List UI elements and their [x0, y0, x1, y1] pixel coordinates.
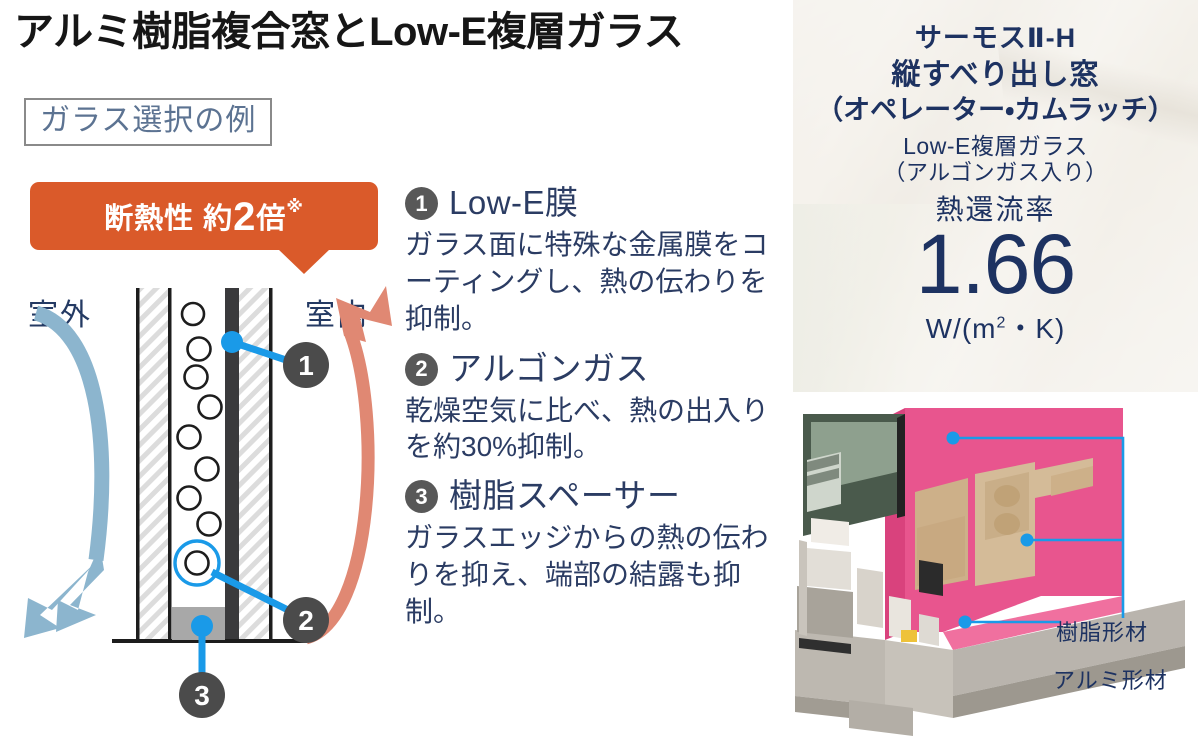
feature-title-3: 樹脂スペーサー — [449, 475, 681, 518]
feature-number-2: 2 — [405, 353, 438, 386]
insulation-badge-asterisk: ※ — [286, 197, 304, 217]
label-aluminum-profile: アルミ形材 — [1053, 663, 1168, 695]
frame-cutaway-illustration — [793, 400, 1198, 748]
feature-item-lowe-film: 1 Low-E膜 ガラス面に特殊な金属膜をコーティングし、熱の伝わりを抑制。 — [405, 182, 785, 338]
spec-model-name: サーモスⅡ-H — [915, 22, 1076, 54]
argon-gas-bubbles — [178, 303, 222, 575]
product-spec-panel: サーモスⅡ-H 縦すべり出し窓 （オペレーター・カムラッチ） Low-E複層ガラ… — [793, 0, 1198, 392]
feature-body-3: ガラスエッジからの熱の伝わりを抑え、端部の結露も抑制。 — [405, 520, 785, 631]
right-column: サーモスⅡ-H 縦すべり出し窓 （オペレーター・カムラッチ） Low-E複層ガラ… — [790, 0, 1200, 750]
feature-title-1: Low-E膜 — [449, 182, 579, 225]
left-column: アルミ樹脂複合窓とLow‐E複層ガラス ガラス選択の例 断熱性 約2倍※ 室外 … — [0, 0, 790, 750]
page-title: アルミ樹脂複合窓とLow‐E複層ガラス — [14, 10, 784, 54]
glass-selection-example-box: ガラス選択の例 — [24, 98, 272, 146]
insulation-badge-text: 断熱性 約2倍※ — [30, 182, 378, 250]
outer-glass-pane — [136, 288, 172, 643]
glass-cross-section-diagram: 1 2 3 — [0, 270, 400, 740]
heat-out-arrow — [24, 313, 104, 638]
svg-text:3: 3 — [194, 680, 210, 711]
spec-glass-detail: （アルゴンガス入り） — [883, 160, 1107, 186]
leader-dot-aluminum — [959, 616, 972, 629]
glass-selection-example-label: ガラス選択の例 — [40, 104, 256, 137]
feature-body-1: ガラス面に特殊な金属膜をコーティングし、熱の伝わりを抑制。 — [405, 227, 785, 338]
callout-marker-1: 1 — [283, 342, 329, 388]
heat-in-arrow — [306, 286, 392, 638]
feature-heading: 3 樹脂スペーサー — [405, 475, 785, 518]
callout-leader-3 — [191, 615, 213, 674]
unit-prefix: W/(m — [926, 313, 997, 344]
svg-text:2: 2 — [298, 605, 314, 636]
label-resin-profile: 樹脂形材 — [1056, 615, 1148, 647]
feature-heading: 2 アルゴンガス — [405, 348, 785, 391]
infographic-page: アルミ樹脂複合窓とLow‐E複層ガラス ガラス選択の例 断熱性 約2倍※ 室外 … — [0, 0, 1200, 750]
spec-window-type: 縦すべり出し窓 — [892, 58, 1100, 93]
leader-dot-resin-top — [947, 432, 960, 445]
frame-cutaway-photo-panel — [793, 400, 1198, 748]
feature-number-3: 3 — [405, 480, 438, 513]
feature-number-1: 1 — [405, 187, 438, 220]
insulation-badge-prefix: 断熱性 約 — [104, 195, 233, 237]
insulation-badge-value: 2 — [233, 197, 256, 237]
feature-heading: 1 Low-E膜 — [405, 182, 785, 225]
spec-metric-value: 1.66 — [916, 225, 1076, 305]
feature-title-2: アルゴンガス — [449, 348, 649, 391]
callout-marker-3: 3 — [179, 672, 225, 718]
unit-superscript: 2 — [996, 315, 1006, 332]
feature-list: 1 Low-E膜 ガラス面に特殊な金属膜をコーティングし、熱の伝わりを抑制。 2… — [405, 182, 785, 641]
leader-dot-resin-mid — [1021, 534, 1034, 547]
spec-glass-type: Low-E複層ガラス — [903, 133, 1088, 161]
feature-item-resin-spacer: 3 樹脂スペーサー ガラスエッジからの熱の伝わりを抑え、端部の結露も抑制。 — [405, 475, 785, 631]
spec-metric-unit: W/(m2・K) — [926, 307, 1066, 347]
unit-suffix: ・K) — [1006, 313, 1065, 344]
insulation-badge: 断熱性 約2倍※ — [30, 182, 378, 274]
callout-marker-2: 2 — [283, 597, 329, 643]
spec-window-type-detail: （オペレーター・カムラッチ） — [816, 94, 1175, 126]
svg-text:1: 1 — [298, 350, 314, 381]
feature-item-argon-gas: 2 アルゴンガス 乾燥空気に比べ、熱の出入りを約30%抑制。 — [405, 348, 785, 466]
insulation-badge-suffix: 倍 — [256, 195, 286, 237]
feature-body-2: 乾燥空気に比べ、熱の出入りを約30%抑制。 — [405, 393, 785, 466]
spec-text-block: サーモスⅡ-H 縦すべり出し窓 （オペレーター・カムラッチ） Low-E複層ガラ… — [793, 0, 1198, 392]
